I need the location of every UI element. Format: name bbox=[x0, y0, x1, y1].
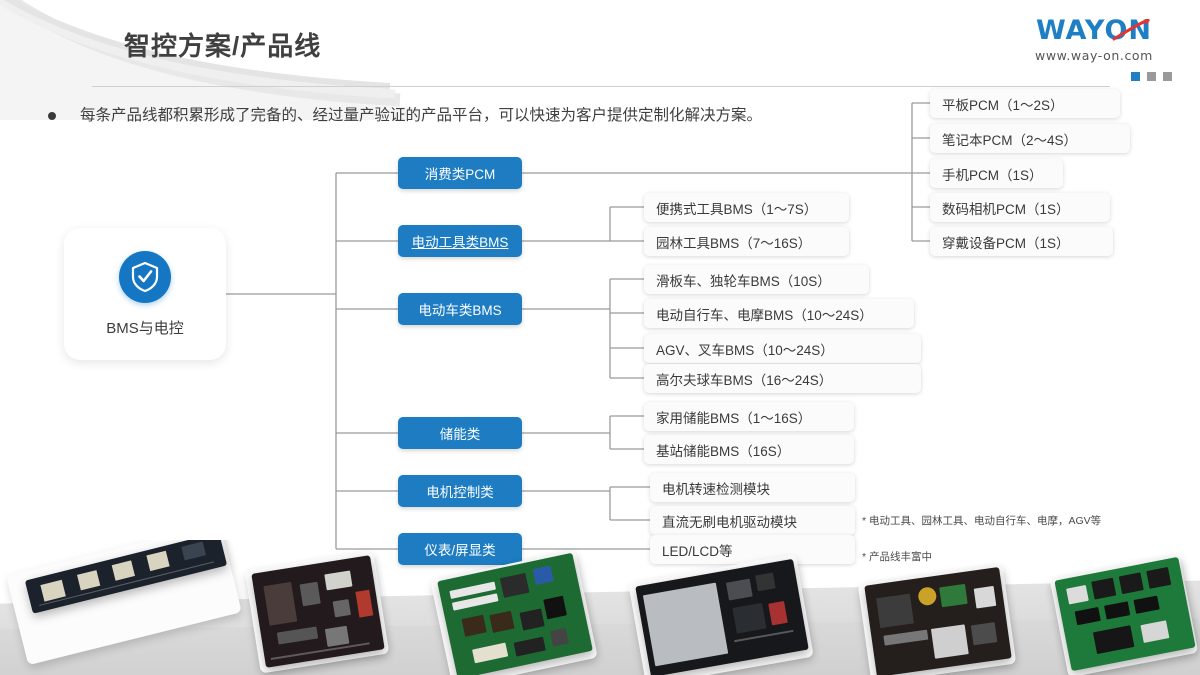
leaf-label: 电动自行车、电摩BMS（10～24S） bbox=[656, 304, 873, 324]
leaf-portable-tool-bms[interactable]: 便携式工具BMS（1～7S） bbox=[644, 193, 849, 222]
leaf-ebike-emoto-bms[interactable]: 电动自行车、电摩BMS（10～24S） bbox=[644, 299, 914, 328]
leaf-label: 滑板车、独轮车BMS（10S） bbox=[656, 270, 831, 290]
leaf-label: 笔记本PCM（2～4S） bbox=[942, 129, 1077, 149]
root-node-label: BMS与电控 bbox=[106, 317, 184, 338]
category-consumer-pcm[interactable]: 消费类PCM bbox=[398, 157, 522, 189]
product-photo-strip bbox=[0, 540, 1200, 675]
leaf-golf-cart-bms[interactable]: 高尔夫球车BMS（16～24S） bbox=[644, 364, 921, 393]
leaf-garden-tool-bms[interactable]: 园林工具BMS（7～16S） bbox=[644, 227, 849, 256]
leaf-pcm-wearable[interactable]: 穿戴设备PCM（1S） bbox=[930, 227, 1113, 256]
leaf-label: 直流无刷电机驱动模块 bbox=[662, 511, 797, 531]
leaf-label: 高尔夫球车BMS（16～24S） bbox=[656, 369, 832, 389]
leaf-bldc-driver-module[interactable]: 直流无刷电机驱动模块 bbox=[650, 506, 855, 535]
leaf-agv-forklift-bms[interactable]: AGV、叉车BMS（10～24S） bbox=[644, 334, 921, 363]
leaf-label: 家用储能BMS（1～16S） bbox=[656, 407, 811, 427]
category-power-tool-bms[interactable]: 电动工具类BMS bbox=[398, 225, 522, 257]
leaf-label: 园林工具BMS（7～16S） bbox=[656, 232, 811, 252]
leaf-pcm-notebook[interactable]: 笔记本PCM（2～4S） bbox=[930, 124, 1130, 153]
category-label: 电动工具类BMS bbox=[412, 231, 509, 251]
leaf-label: 穿戴设备PCM（1S） bbox=[942, 232, 1070, 252]
leaf-home-storage-bms[interactable]: 家用储能BMS（1～16S） bbox=[644, 402, 854, 431]
slide-canvas: 智控方案/产品线 WAYON www.way-on.com 每条产品线都积累形成… bbox=[0, 0, 1200, 675]
leaf-pcm-camera[interactable]: 数码相机PCM（1S） bbox=[930, 193, 1110, 222]
pcb-photo-dark-display-board bbox=[864, 567, 1011, 675]
shield-check-icon bbox=[119, 251, 171, 303]
leaf-label: AGV、叉车BMS（10～24S） bbox=[656, 339, 834, 359]
category-label: 消费类PCM bbox=[425, 163, 496, 183]
footnote-motor-applications: * 电动工具、园林工具、电动自行车、电摩，AGV等 bbox=[862, 513, 1101, 528]
leaf-label: 便携式工具BMS（1～7S） bbox=[656, 198, 817, 218]
leaf-label: 手机PCM（1S） bbox=[942, 164, 1043, 184]
category-motor-control[interactable]: 电机控制类 bbox=[398, 475, 522, 507]
product-line-diagram: BMS与电控 消费类PCM 电动工具类BMS 电动车类BMS 储能类 电机控制类… bbox=[0, 0, 1200, 600]
leaf-label: 平板PCM（1～2S） bbox=[942, 94, 1064, 114]
category-energy-storage[interactable]: 储能类 bbox=[398, 417, 522, 449]
leaf-pcm-phone[interactable]: 手机PCM（1S） bbox=[930, 159, 1063, 188]
leaf-label: 基站储能BMS（16S） bbox=[656, 440, 790, 460]
category-ev-bms[interactable]: 电动车类BMS bbox=[398, 293, 522, 325]
leaf-pcm-tablet[interactable]: 平板PCM（1～2S） bbox=[930, 89, 1120, 118]
pcb-photo-dark-bms-board bbox=[251, 555, 384, 668]
category-label: 电动车类BMS bbox=[418, 299, 501, 319]
leaf-label: 电机转速检测模块 bbox=[662, 478, 770, 498]
category-label: 电机控制类 bbox=[426, 481, 494, 501]
category-label: 储能类 bbox=[440, 423, 481, 443]
leaf-motor-speed-module[interactable]: 电机转速检测模块 bbox=[650, 473, 855, 502]
leaf-label: 数码相机PCM（1S） bbox=[942, 198, 1070, 218]
leaf-basestation-storage-bms[interactable]: 基站储能BMS（16S） bbox=[644, 435, 854, 464]
root-node[interactable]: BMS与电控 bbox=[64, 228, 226, 360]
leaf-scooter-unicycle-bms[interactable]: 滑板车、独轮车BMS（10S） bbox=[644, 265, 869, 294]
